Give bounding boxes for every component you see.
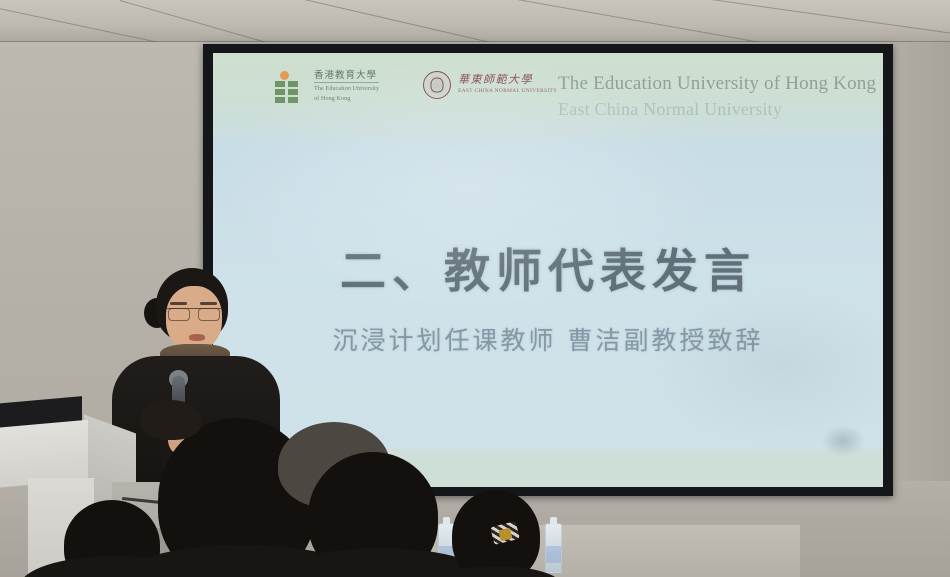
slide-logo-row: 香港教育大學 The Education University of Hong … <box>275 71 557 104</box>
presenter-eyebrow-left <box>170 302 187 305</box>
header-english-line2: East China Normal University <box>558 97 876 121</box>
eduhk-logo-icon <box>275 71 307 104</box>
ecnu-seal-icon <box>423 71 451 99</box>
water-bottle-right <box>545 523 562 573</box>
ecnu-logo: 華東師範大學 EAST CHINA NORMAL UNIVERSITY <box>423 71 557 99</box>
ceiling-tiles <box>0 0 950 44</box>
lecture-hall-photo: 香港教育大學 The Education University of Hong … <box>0 0 950 577</box>
eduhk-name-cn: 香港教育大學 <box>314 71 379 83</box>
projected-slide: 香港教育大學 The Education University of Hong … <box>213 53 883 487</box>
ecnu-name-en: EAST CHINA NORMAL UNIVERSITY <box>458 89 557 95</box>
eduhk-name-en-line1: The Education University <box>314 85 379 94</box>
presenter-glasses <box>167 308 221 321</box>
eduhk-logo: 香港教育大學 The Education University of Hong … <box>275 71 379 104</box>
eduhk-name-en-line2: of Hong Kong <box>314 95 379 104</box>
audience-head-6 <box>140 400 202 440</box>
slide-title: 二、教师代表发言 <box>213 235 883 301</box>
slide-subtitle: 沉浸计划任课教师 曹洁副教授致辞 <box>213 321 883 357</box>
presenter-eyebrow-right <box>200 302 217 305</box>
ecnu-name-cn: 華東師範大學 <box>458 75 557 87</box>
presenter-mouth <box>189 334 205 341</box>
screen-smudge <box>821 425 865 457</box>
header-english-line1: The Education University of Hong Kong <box>558 71 876 97</box>
slide-header-english: The Education University of Hong Kong Ea… <box>558 71 876 121</box>
